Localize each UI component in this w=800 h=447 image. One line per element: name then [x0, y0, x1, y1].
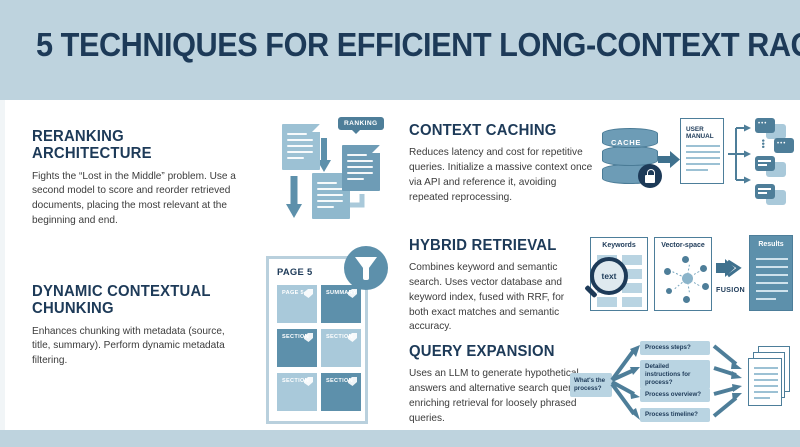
- section-chunking-body: Enhances chunking with metadata (source,…: [32, 325, 243, 369]
- ellipsis-icon: •••: [761, 139, 764, 148]
- query-variant-box: Process overview?: [640, 388, 710, 402]
- context-caching-illustration: CACHE USER MANUAL ••• ••• •••: [598, 112, 794, 210]
- fanout-arrows: [726, 116, 754, 192]
- chat-bubble-icon: •••: [774, 138, 794, 153]
- section-chunking-title: DYNAMIC CONTEXTUAL CHUNKING: [32, 283, 241, 318]
- arrow-to-manual: [658, 150, 682, 170]
- chunking-illustration: PAGE 5 PAGE 5 SUMMARY SECTION SECTION SE…: [266, 246, 384, 428]
- chunk-block: SECTION: [321, 373, 361, 411]
- graph-node: [682, 256, 689, 263]
- keywords-label: Keywords: [591, 242, 647, 249]
- query-expansion-illustration: What's the process? Process steps? Detai…: [570, 340, 795, 430]
- chunk-label: PAGE 5: [282, 290, 304, 296]
- graph-node: [700, 265, 707, 272]
- document-icon: [748, 358, 782, 406]
- vector-space-panel: Vector-space: [654, 237, 712, 311]
- section-context-caching: CONTEXT CACHING Reduces latency and cost…: [409, 122, 599, 205]
- chunk-block: PAGE 5: [277, 285, 317, 323]
- results-label: Results: [750, 241, 792, 248]
- query-variant-box: Process steps?: [640, 341, 710, 355]
- ranking-label: RANKING: [338, 117, 384, 130]
- section-caching-body: Reduces latency and cost for repetitive …: [409, 146, 593, 205]
- results-panel: Results: [749, 235, 793, 311]
- chat-bubble-icon: [755, 156, 775, 171]
- query-variant-box: Detailed instructions for process?: [640, 360, 710, 389]
- section-hybrid-body: Combines keyword and semantic search. Us…: [409, 261, 584, 335]
- magnifier-text: text: [594, 271, 624, 281]
- graph-node: [702, 283, 709, 290]
- query-variant-box: Process timeline?: [640, 408, 710, 422]
- left-edge-strip: [0, 100, 5, 430]
- chunk-block: SUMMARY: [321, 285, 361, 323]
- graph-hub-node: [682, 273, 693, 284]
- magnifier-icon: text: [590, 257, 628, 295]
- section-hybrid-retrieval: HYBRID RETRIEVAL Combines keyword and se…: [409, 237, 589, 335]
- graph-node: [666, 288, 672, 294]
- infographic-poster: 5 TECHNIQUES FOR EFFICIENT LONG-CONTEXT …: [0, 0, 800, 447]
- filter-funnel-icon: [344, 246, 388, 290]
- fusion-arrow: [716, 259, 742, 281]
- section-query-title: QUERY EXPANSION: [409, 343, 591, 360]
- page-title: 5 TECHNIQUES FOR EFFICIENT LONG-CONTEXT …: [36, 26, 800, 64]
- query-converge-arrows: [712, 340, 748, 430]
- user-manual-document: USER MANUAL: [680, 118, 724, 184]
- section-reranking-title: RERANKING ARCHITECTURE: [32, 128, 241, 163]
- section-dynamic-contextual-chunking: DYNAMIC CONTEXTUAL CHUNKING Enhances chu…: [32, 283, 250, 369]
- document-icon: [282, 124, 320, 170]
- graph-node: [664, 268, 671, 275]
- section-caching-title: CONTEXT CACHING: [409, 122, 591, 139]
- vector-space-label: Vector-space: [655, 242, 711, 249]
- section-hybrid-title: HYBRID RETRIEVAL: [409, 237, 582, 254]
- cache-label: CACHE: [598, 138, 654, 147]
- tag-icon: [304, 289, 313, 298]
- chat-bubble-icon: [755, 184, 775, 199]
- user-manual-label: USER MANUAL: [686, 126, 720, 141]
- page-card-title: PAGE 5: [277, 266, 313, 277]
- chunk-block: SECTION: [321, 329, 361, 367]
- footer-band: [0, 430, 800, 447]
- reranking-illustration: RANKING: [270, 110, 390, 220]
- hybrid-retrieval-illustration: Keywords text Vector-space: [588, 235, 793, 317]
- fusion-label: FUSION: [716, 285, 745, 294]
- chunk-block: SECTION: [277, 329, 317, 367]
- graph-node: [683, 296, 690, 303]
- document-icon: [342, 145, 380, 191]
- source-query-box: What's the process?: [570, 373, 612, 397]
- section-reranking-body: Fights the “Lost in the Middle” problem.…: [32, 170, 243, 229]
- section-reranking: RERANKING ARCHITECTURE Fights the “Lost …: [32, 128, 250, 229]
- chunk-block: SECTION: [277, 373, 317, 411]
- chat-bubble-icon: •••: [755, 118, 775, 133]
- section-query-body: Uses an LLM to generate hypothetical ans…: [409, 367, 593, 426]
